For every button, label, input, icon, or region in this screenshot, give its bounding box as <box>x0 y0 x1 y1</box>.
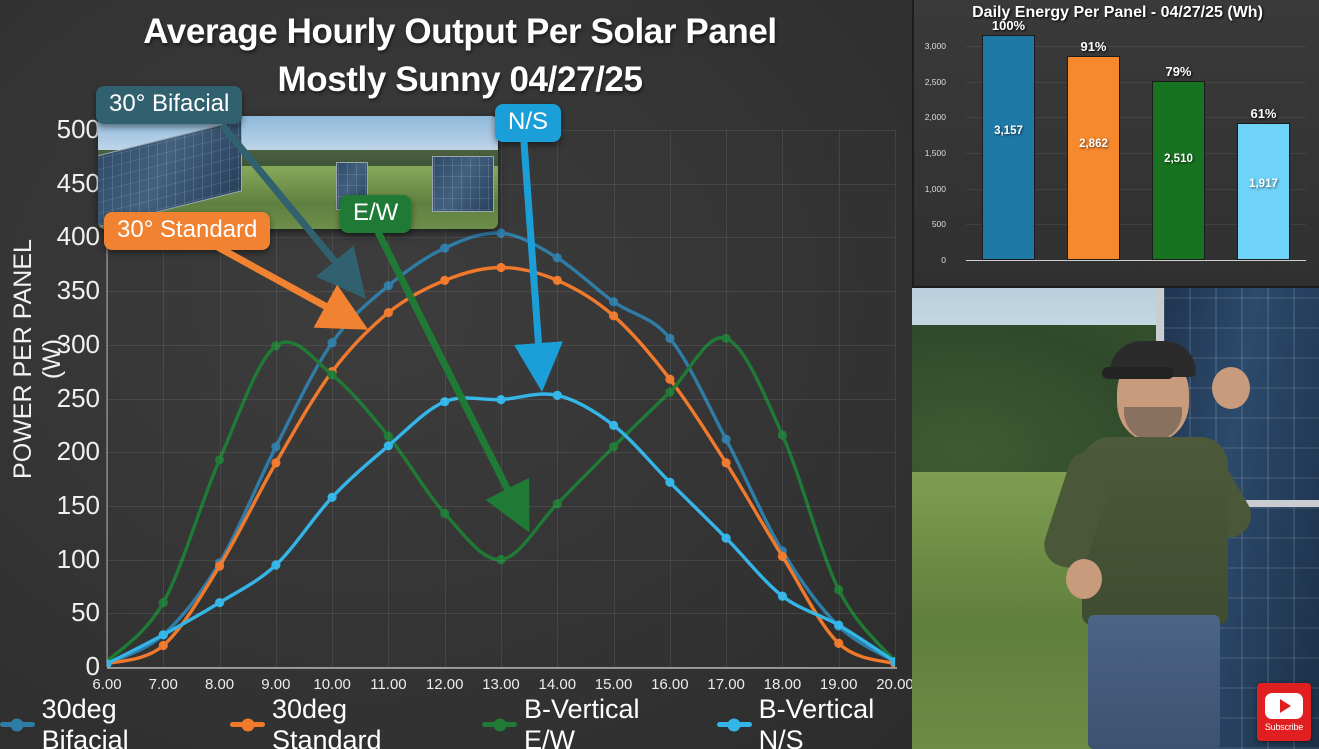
legend-label: 30deg Bifacial <box>42 694 205 749</box>
grid-line <box>557 130 558 667</box>
bar-y-tick-label: 3,000 <box>900 41 946 51</box>
y-tick-label: 300 <box>28 329 100 360</box>
bar: 100%3,157 <box>982 35 1035 260</box>
line-chart-title-line1: Average Hourly Output Per Solar Panel <box>0 8 920 56</box>
x-tick-label: 12.00 <box>415 676 475 693</box>
bar-value-label: 2,862 <box>1068 138 1119 150</box>
bar-percent-label: 79% <box>1153 64 1204 79</box>
bar: 61%1,917 <box>1237 123 1290 260</box>
bar: 91%2,862 <box>1067 56 1120 260</box>
legend-item[interactable]: 30deg Standard <box>230 694 456 749</box>
legend-label: 30deg Standard <box>272 694 457 749</box>
bar-y-tick-label: 2,000 <box>900 112 946 122</box>
bar-x-axis-line <box>966 260 1306 261</box>
screenshot-root: Average Hourly Output Per Solar Panel Mo… <box>0 0 1319 749</box>
x-tick-label: 14.00 <box>527 676 587 693</box>
y-tick-label: 500 <box>28 114 100 145</box>
presenter-figure <box>1062 319 1242 749</box>
x-tick-label: 10.00 <box>302 676 362 693</box>
grid-line <box>782 130 783 667</box>
x-tick-label: 6.00 <box>77 676 137 693</box>
y-tick-label: 250 <box>28 383 100 414</box>
x-tick-label: 11.00 <box>358 676 418 693</box>
youtube-play-icon <box>1265 693 1303 719</box>
legend-label: B-Vertical E/W <box>524 694 691 749</box>
bar-percent-label: 91% <box>1068 39 1119 54</box>
y-tick-label: 100 <box>28 544 100 575</box>
x-tick-label: 16.00 <box>640 676 700 693</box>
grid-line <box>614 130 615 667</box>
x-tick-label: 18.00 <box>752 676 812 693</box>
callout-ns: N/S <box>495 104 561 142</box>
bar-value-label: 1,917 <box>1238 178 1289 190</box>
bar-y-tick-label: 1,500 <box>900 148 946 158</box>
legend-item[interactable]: B-Vertical N/S <box>717 694 920 749</box>
y-tick-label: 450 <box>28 168 100 199</box>
bar-plot-area: 05001,0001,5002,0002,5003,000100%3,15730… <box>966 28 1306 260</box>
grid-line <box>726 130 727 667</box>
line-chart-panel: Average Hourly Output Per Solar Panel Mo… <box>0 0 920 749</box>
x-tick-label: 13.00 <box>471 676 531 693</box>
bar-percent-label: 61% <box>1238 106 1289 121</box>
legend-marker-icon <box>230 722 265 727</box>
grid-line <box>895 130 896 667</box>
x-tick-label: 19.00 <box>809 676 869 693</box>
x-tick-label: 8.00 <box>190 676 250 693</box>
x-tick-label: 17.00 <box>696 676 756 693</box>
grid-line <box>670 130 671 667</box>
y-axis-ticks: 050100150200250300350400450500 <box>8 0 100 749</box>
y-tick-label: 400 <box>28 221 100 252</box>
legend-label: B-Vertical N/S <box>759 694 920 749</box>
bar-y-tick-label: 0 <box>900 255 946 265</box>
bar-y-tick-label: 500 <box>900 219 946 229</box>
callout-30deg-bifacial: 30° Bifacial <box>96 86 242 124</box>
legend-marker-icon <box>0 722 35 727</box>
x-tick-label: 7.00 <box>133 676 193 693</box>
bar-chart-title: Daily Energy Per Panel - 04/27/25 (Wh) <box>914 4 1319 22</box>
subscribe-button[interactable]: Subscribe <box>1257 683 1311 741</box>
legend-marker-icon <box>482 722 517 727</box>
presenter-video: Subscribe <box>912 288 1319 749</box>
grid-line <box>107 667 895 668</box>
line-chart-legend: 30deg Bifacial30deg StandardB-Vertical E… <box>0 700 920 749</box>
callout-ew: E/W <box>340 195 411 233</box>
y-tick-label: 50 <box>28 597 100 628</box>
legend-marker-icon <box>717 722 752 727</box>
legend-item[interactable]: B-Vertical E/W <box>482 694 691 749</box>
bar-y-tick-label: 2,500 <box>900 77 946 87</box>
bar-chart-panel: Daily Energy Per Panel - 04/27/25 (Wh) 0… <box>912 0 1319 288</box>
bar-value-label: 3,157 <box>983 125 1034 137</box>
callout-30deg-standard: 30° Standard <box>104 212 270 250</box>
x-tick-label: 9.00 <box>246 676 306 693</box>
bar-y-tick-label: 1,000 <box>900 184 946 194</box>
grid-line <box>501 130 502 667</box>
bar-value-label: 2,510 <box>1153 153 1204 165</box>
bar: 79%2,510 <box>1152 81 1205 260</box>
subscribe-label: Subscribe <box>1265 722 1303 732</box>
legend-item[interactable]: 30deg Bifacial <box>0 694 204 749</box>
y-tick-label: 200 <box>28 436 100 467</box>
bar-percent-label: 100% <box>983 18 1034 33</box>
y-tick-label: 150 <box>28 490 100 521</box>
x-tick-label: 15.00 <box>584 676 644 693</box>
y-tick-label: 350 <box>28 275 100 306</box>
grid-line <box>839 130 840 667</box>
